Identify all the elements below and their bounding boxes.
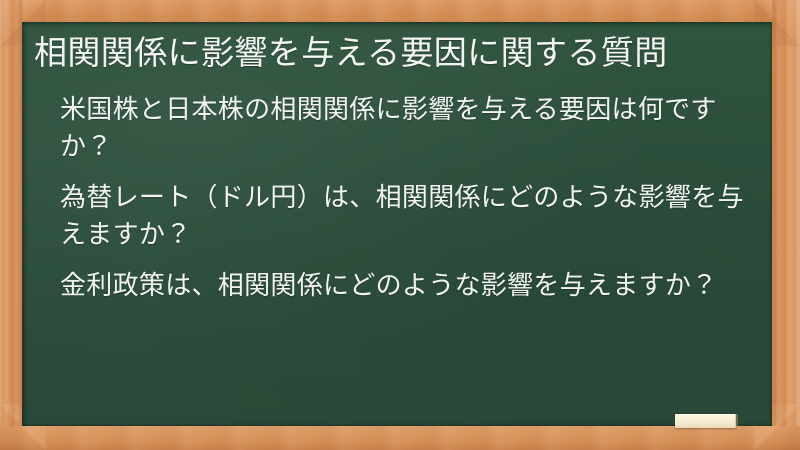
question-list: 米国株と日本株の相関関係に影響を与える要因は何ですか？ 為替レート（ドル円）は、… <box>34 92 744 305</box>
frame-top-rail <box>0 0 800 22</box>
frame-bottom-ledge <box>0 426 800 450</box>
question-item-3: 金利政策は、相関関係にどのような影響を与えますか？ <box>60 268 744 305</box>
question-item-1: 米国株と日本株の相関関係に影響を与える要因は何ですか？ <box>60 92 744 166</box>
frame-left-stile <box>0 0 22 450</box>
chalkboard-surface: 相関関係に影響を与える要因に関する質問 米国株と日本株の相関関係に影響を与える要… <box>22 22 772 426</box>
frame-right-stile <box>772 0 800 450</box>
slide-title: 相関関係に影響を与える要因に関する質問 <box>34 32 744 74</box>
chalk-stick-icon <box>675 414 736 428</box>
question-item-2: 為替レート（ドル円）は、相関関係にどのような影響を与えますか？ <box>60 180 744 254</box>
chalkboard-slide: 相関関係に影響を与える要因に関する質問 米国株と日本株の相関関係に影響を与える要… <box>0 0 800 450</box>
